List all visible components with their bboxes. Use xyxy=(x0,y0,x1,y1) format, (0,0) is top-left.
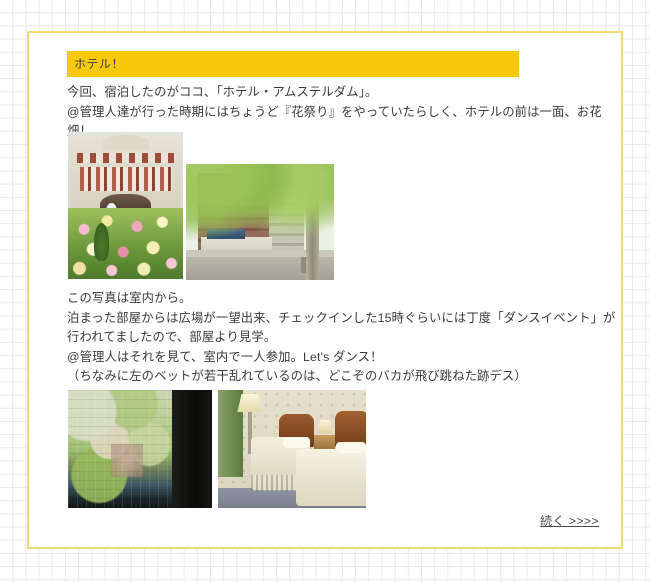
photo-pillow-left xyxy=(283,437,310,448)
paragraph-room: この写真は室内から。 泊まった部屋からは広場が一望出来、チェックインした15時ぐ… xyxy=(67,289,619,387)
entry-title-bar: ホテル！ xyxy=(67,51,519,77)
photo-bed-right xyxy=(296,449,366,506)
photo-flower-bed xyxy=(68,208,183,279)
photo-pediment xyxy=(103,135,149,150)
photo-windows xyxy=(80,167,172,191)
blog-entry-card: ホテル！ 今回、宿泊したのがココ、「ホテル・アムステルダム」。 @管理人達が行っ… xyxy=(27,31,623,549)
photo-twin-room xyxy=(218,390,366,508)
photo-hotel-garden xyxy=(68,132,183,279)
continue-link[interactable]: 続く >>>> xyxy=(540,512,599,529)
photo-green-curtain xyxy=(218,390,243,477)
photo-shrub xyxy=(94,223,109,261)
photo-window-view xyxy=(68,390,212,508)
photo-pixelation-grid xyxy=(68,390,172,508)
photo-tree-canopy xyxy=(186,164,334,280)
photo-street xyxy=(186,164,334,280)
photo-cornice xyxy=(77,153,174,163)
photo-dark-curtain xyxy=(172,390,212,508)
photo-pillow-right xyxy=(336,442,366,453)
entry-card-inner: ホテル！ 今回、宿泊したのがココ、「ホテル・アムステルダム」。 @管理人達が行っ… xyxy=(29,33,621,547)
